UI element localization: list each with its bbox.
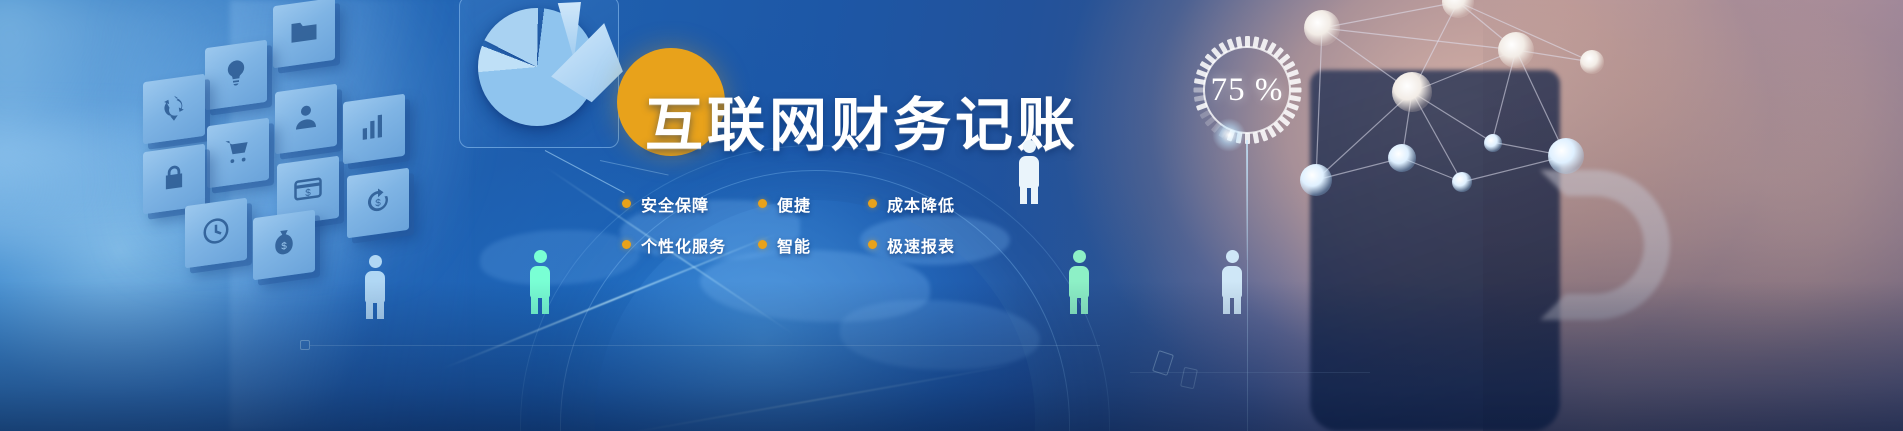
bottom-vignette [0,281,1903,431]
cube-refresh: $ [347,168,409,239]
shopping-cart-icon [223,133,253,172]
bullet-icon [758,240,767,249]
cube-clock [185,198,247,269]
feature-item-fast-reports[interactable]: 极速报表 [868,233,955,257]
network-node [1304,10,1340,46]
cube-recycle [143,74,205,145]
cube-money-bag: $ [253,210,315,281]
lightbulb-icon [221,55,251,94]
folder-icon [289,13,319,52]
person-leg-right [1031,186,1038,204]
bullet-icon [622,240,631,249]
refresh-icon: $ [363,183,393,222]
person-head [1226,250,1239,263]
feature-label: 个性化服务 [641,233,726,257]
banner-root: $ $ $ 互联网财务记账 安全保障 [0,0,1903,431]
network-node [1300,164,1332,196]
gauge-spark [1212,118,1246,152]
bullet-icon [758,199,767,208]
feature-item-intelligent[interactable]: 智能 [758,233,868,257]
feature-label: 极速报表 [887,233,955,257]
feature-item-convenient[interactable]: 便捷 [758,192,868,216]
cube-lightbulb [205,40,267,111]
person-icon [291,99,321,138]
network-node [1392,72,1432,112]
feature-row-1: 安全保障 便捷 成本降低 [622,183,1002,224]
money-bag-icon: $ [269,225,299,264]
feature-item-cost-reduction[interactable]: 成本降低 [868,192,955,216]
feature-label: 成本降低 [887,192,955,216]
clock-icon [201,213,231,252]
cube-shopping-cart [207,118,269,189]
bar-chart-icon [359,109,389,148]
bullet-icon [868,240,877,249]
lock-icon [159,159,189,198]
person-figure [1012,140,1046,212]
network-node [1388,144,1416,172]
person-head [369,255,382,268]
person-head [1023,140,1036,153]
feature-item-security[interactable]: 安全保障 [622,192,758,216]
feature-label: 安全保障 [641,192,709,216]
svg-text:$: $ [375,197,381,209]
network-node [1484,134,1502,152]
credit-card-icon: $ [293,171,323,210]
bullet-icon [622,199,631,208]
feature-list: 安全保障 便捷 成本降低 个性化服务 智能 极速报表 [622,183,1002,265]
feature-label: 智能 [777,233,811,257]
feature-row-2: 个性化服务 智能 极速报表 [622,224,1002,265]
cube-folder [273,0,335,68]
person-head [534,250,547,263]
network-node [1498,32,1534,68]
recycle-icon [159,89,189,128]
icon-cube-stack: $ $ $ [165,0,455,230]
person-head [1073,250,1086,263]
feature-item-personalized-service[interactable]: 个性化服务 [622,233,758,257]
person-leg-left [1020,186,1027,204]
cube-person [275,84,337,155]
feature-label: 便捷 [777,192,811,216]
network-node [1452,172,1472,192]
network-graph [1280,0,1610,200]
cube-bar-chart [343,94,405,165]
person-body [1019,156,1039,188]
network-node [1548,138,1584,174]
svg-text:$: $ [281,240,287,252]
network-node [1580,50,1604,74]
svg-text:$: $ [305,187,311,199]
bullet-icon [868,199,877,208]
